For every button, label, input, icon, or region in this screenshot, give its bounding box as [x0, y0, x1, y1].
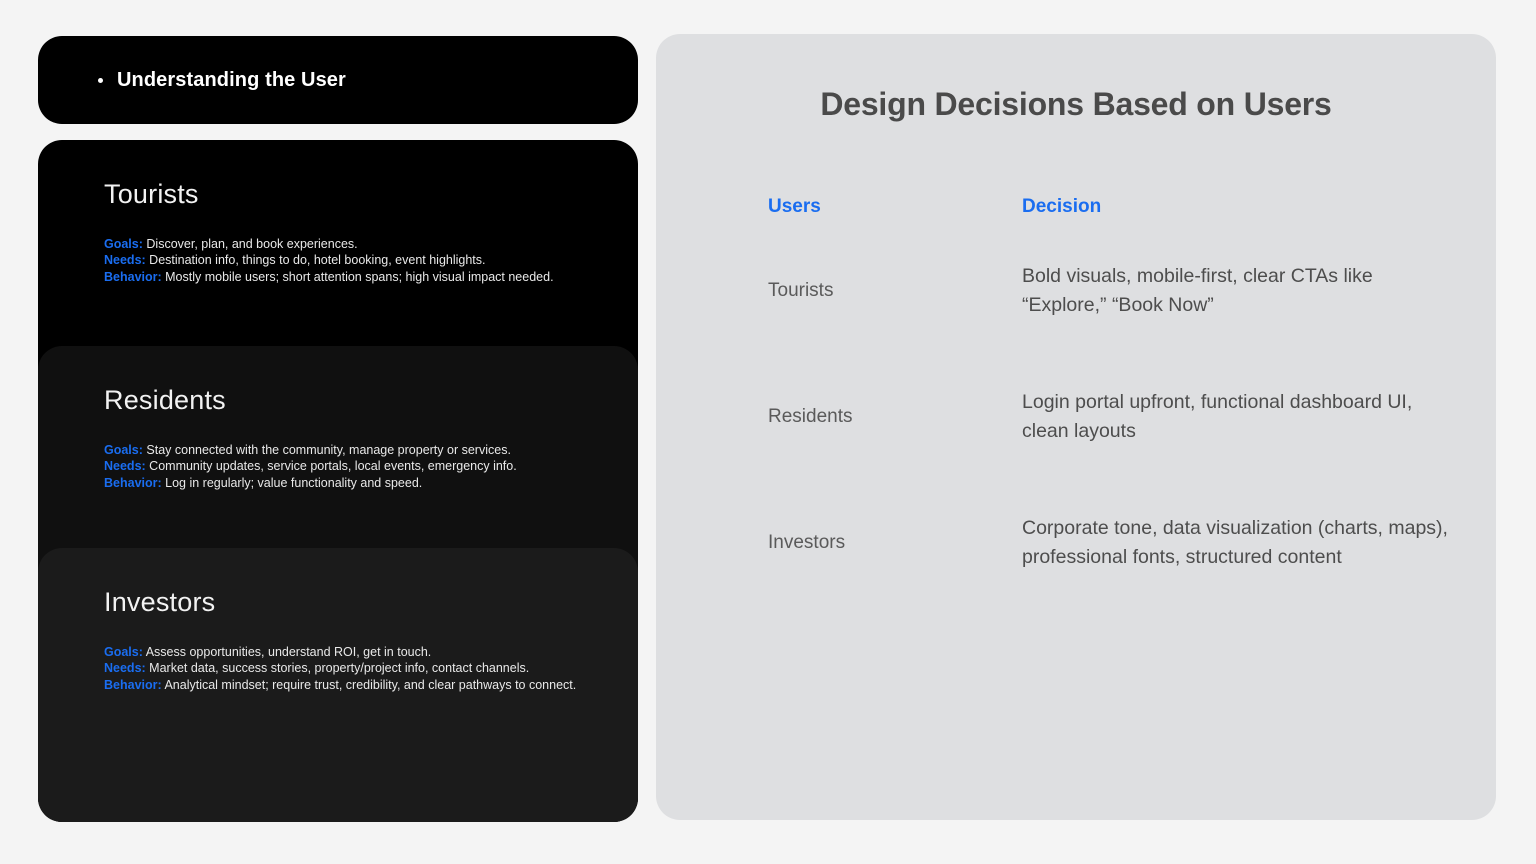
persona-line-label: Goals:: [104, 237, 143, 251]
persona-line-text: Mostly mobile users; short attention spa…: [165, 270, 553, 284]
persona-line-label: Behavior:: [104, 270, 162, 284]
cell-user: Tourists: [768, 280, 1022, 302]
persona-line: Behavior: Log in regularly; value functi…: [104, 475, 604, 492]
column-header-users: Users: [768, 196, 1022, 228]
persona-line-text: Destination info, things to do, hotel bo…: [149, 253, 485, 267]
persona-line-label: Needs:: [104, 661, 146, 675]
persona-line-text: Community updates, service portals, loca…: [149, 459, 517, 473]
persona-line-text: Log in regularly; value functionality an…: [165, 476, 422, 490]
persona-title: Residents: [104, 386, 604, 416]
persona-line: Goals: Stay connected with the community…: [104, 442, 604, 459]
design-decisions-panel: Design Decisions Based on Users Users De…: [656, 34, 1496, 820]
decisions-table: Users Decision Tourists Bold visuals, mo…: [768, 196, 1456, 606]
persona-line: Goals: Assess opportunities, understand …: [104, 644, 604, 661]
cell-decision: Corporate tone, data visualization (char…: [1022, 514, 1456, 572]
persona-line-text: Discover, plan, and book experiences.: [146, 237, 357, 251]
page-title: Design Decisions Based on Users: [656, 86, 1496, 123]
cell-user: Investors: [768, 532, 1022, 554]
persona-line-label: Needs:: [104, 253, 146, 267]
persona-line-text: Assess opportunities, understand ROI, ge…: [146, 645, 432, 659]
section-header-inner: Understanding the User: [38, 69, 346, 92]
persona-line-label: Needs:: [104, 459, 146, 473]
left-column: Understanding the User Tourists Goals: D…: [38, 36, 638, 822]
table-row: Residents Login portal upfront, function…: [768, 354, 1456, 480]
table-row: Tourists Bold visuals, mobile-first, cle…: [768, 228, 1456, 354]
persona-line-label: Behavior:: [104, 678, 162, 692]
persona-title: Tourists: [104, 180, 604, 210]
table-header-row: Users Decision: [768, 196, 1456, 228]
section-header-title: Understanding the User: [117, 69, 346, 92]
persona-line: Needs: Destination info, things to do, h…: [104, 252, 604, 269]
persona-line-label: Goals:: [104, 443, 143, 457]
bullet-dot-icon: [98, 78, 103, 83]
persona-title: Investors: [104, 588, 604, 618]
persona-line-text: Market data, success stories, property/p…: [149, 661, 529, 675]
persona-card-investors[interactable]: Investors Goals: Assess opportunities, u…: [38, 548, 638, 822]
persona-detail-lines: Goals: Stay connected with the community…: [104, 442, 604, 492]
cell-decision: Login portal upfront, functional dashboa…: [1022, 388, 1456, 446]
persona-card-stack: Tourists Goals: Discover, plan, and book…: [38, 140, 638, 822]
persona-line: Needs: Community updates, service portal…: [104, 458, 604, 475]
cell-user: Residents: [768, 406, 1022, 428]
persona-line-text: Analytical mindset; require trust, credi…: [164, 678, 576, 692]
column-header-decision: Decision: [1022, 196, 1456, 228]
persona-detail-lines: Goals: Assess opportunities, understand …: [104, 644, 604, 694]
persona-line: Behavior: Mostly mobile users; short att…: [104, 269, 604, 286]
persona-line-label: Behavior:: [104, 476, 162, 490]
persona-detail-lines: Goals: Discover, plan, and book experien…: [104, 236, 604, 286]
persona-line: Needs: Market data, success stories, pro…: [104, 660, 604, 677]
persona-line: Behavior: Analytical mindset; require tr…: [104, 677, 604, 694]
persona-line-text: Stay connected with the community, manag…: [146, 443, 511, 457]
table-row: Investors Corporate tone, data visualiza…: [768, 480, 1456, 606]
persona-line: Goals: Discover, plan, and book experien…: [104, 236, 604, 253]
cell-decision: Bold visuals, mobile-first, clear CTAs l…: [1022, 262, 1456, 320]
section-header-card: Understanding the User: [38, 36, 638, 124]
persona-line-label: Goals:: [104, 645, 143, 659]
